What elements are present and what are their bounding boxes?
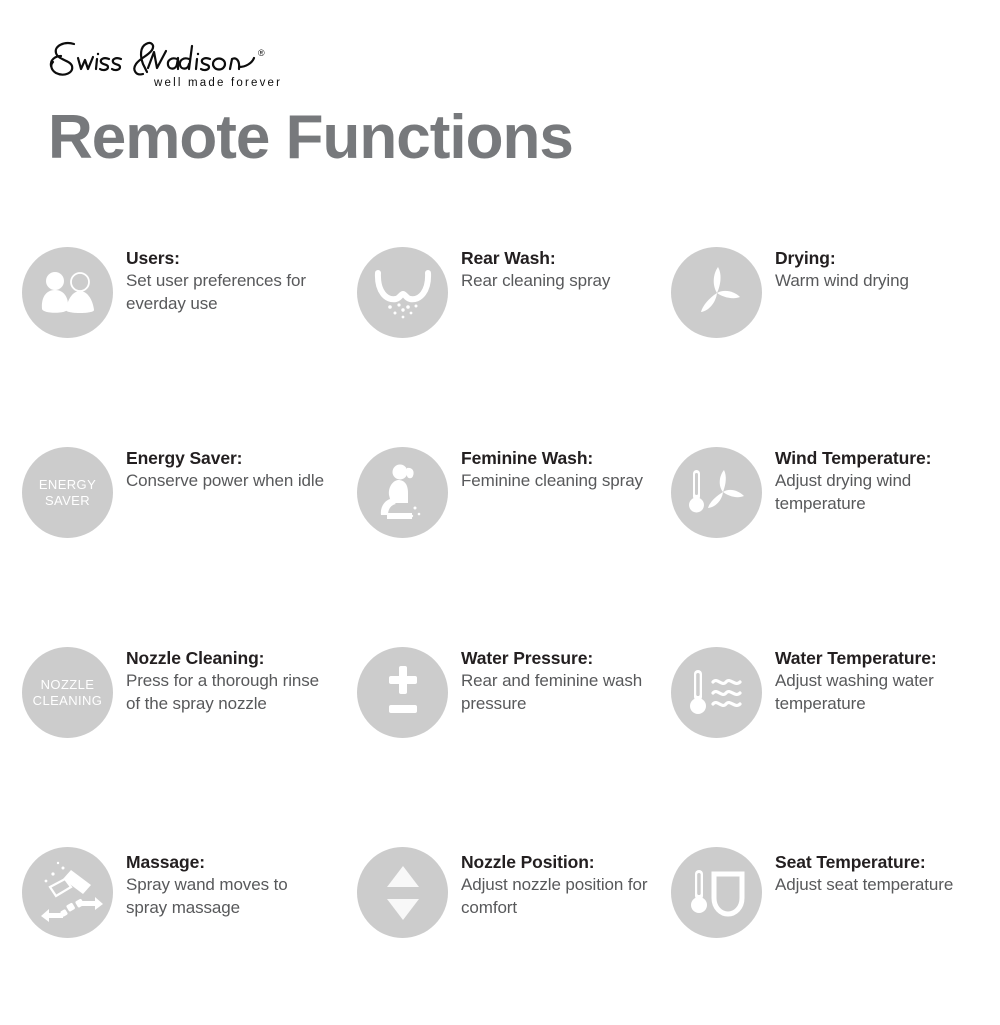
function-text: Water Temperature: Adjust washing water … <box>775 625 1000 715</box>
function-description: Adjust washing water temperature <box>775 670 1000 715</box>
spray-wand-arrows-icon <box>22 847 113 938</box>
swiss-madison-logo: ® well made forever <box>44 36 304 94</box>
function-text: Wind Temperature: Adjust drying wind tem… <box>775 425 1000 515</box>
functions-row: NOZZLE CLEANING Nozzle Cleaning: Press f… <box>0 625 1000 825</box>
icon-text-line-1: ENERGY <box>39 477 96 492</box>
function-item-water-temperature: Water Temperature: Adjust washing water … <box>650 625 1000 825</box>
function-description: Spray wand moves to spray massage <box>126 874 330 919</box>
function-text: Nozzle Cleaning: Press for a thorough ri… <box>126 625 330 715</box>
svg-text:®: ® <box>258 48 265 58</box>
function-title: Nozzle Cleaning: <box>126 647 330 669</box>
function-text: Water Pressure: Rear and feminine wash p… <box>461 625 650 715</box>
thermometer-waves-icon <box>671 647 762 738</box>
function-text: Nozzle Position: Adjust nozzle position … <box>461 825 650 919</box>
seated-female-figure-icon <box>357 447 448 538</box>
function-item-water-pressure: Water Pressure: Rear and feminine wash p… <box>330 625 650 825</box>
function-description: Set user preferences for everday use <box>126 270 330 315</box>
function-item-rear-wash: Rear Wash: Rear cleaning spray <box>330 225 650 425</box>
function-item-seat-temperature: Seat Temperature: Adjust seat temperatur… <box>650 825 1000 1025</box>
function-title: Nozzle Position: <box>461 851 650 873</box>
function-item-feminine-wash: Feminine Wash: Feminine cleaning spray <box>330 425 650 625</box>
function-description: Rear and feminine wash pressure <box>461 670 650 715</box>
function-description: Adjust drying wind temperature <box>775 470 1000 515</box>
function-description: Press for a thorough rinse of the spray … <box>126 670 330 715</box>
function-item-nozzle-cleaning: NOZZLE CLEANING Nozzle Cleaning: Press f… <box>0 625 330 825</box>
function-item-massage: Massage: Spray wand moves to spray massa… <box>0 825 330 1025</box>
function-text: Energy Saver: Conserve power when idle <box>126 425 324 493</box>
function-title: Water Temperature: <box>775 647 1000 669</box>
function-title: Users: <box>126 247 330 269</box>
icon-text-line-2: SAVER <box>45 493 90 508</box>
functions-row: Massage: Spray wand moves to spray massa… <box>0 825 1000 1025</box>
functions-row: Users: Set user preferences for everday … <box>0 225 1000 425</box>
function-item-drying: Drying: Warm wind drying <box>650 225 1000 425</box>
energy-saver-icon-text: ENERGY SAVER <box>39 477 96 509</box>
function-description: Feminine cleaning spray <box>461 470 643 493</box>
fan-blades-icon <box>671 247 762 338</box>
function-text: Rear Wash: Rear cleaning spray <box>461 225 610 293</box>
functions-grid: Users: Set user preferences for everday … <box>0 225 1000 1025</box>
function-title: Massage: <box>126 851 330 873</box>
nozzle-cleaning-text-icon: NOZZLE CLEANING <box>22 647 113 738</box>
functions-row: ENERGY SAVER Energy Saver: Conserve powe… <box>0 425 1000 625</box>
rear-wash-spray-icon <box>357 247 448 338</box>
function-item-nozzle-position: Nozzle Position: Adjust nozzle position … <box>330 825 650 1025</box>
function-title: Energy Saver: <box>126 447 324 469</box>
function-text: Users: Set user preferences for everday … <box>126 225 330 315</box>
function-text: Drying: Warm wind drying <box>775 225 909 293</box>
function-item-wind-temperature: Wind Temperature: Adjust drying wind tem… <box>650 425 1000 625</box>
icon-text-line-2: CLEANING <box>33 693 103 708</box>
up-down-arrows-icon <box>357 847 448 938</box>
function-title: Wind Temperature: <box>775 447 1000 469</box>
function-title: Water Pressure: <box>461 647 650 669</box>
page-title: Remote Functions <box>48 105 573 170</box>
function-description: Conserve power when idle <box>126 470 324 493</box>
function-title: Drying: <box>775 247 909 269</box>
two-users-icon <box>22 247 113 338</box>
svg-text:well made forever: well made forever <box>153 77 282 89</box>
function-description: Warm wind drying <box>775 270 909 293</box>
remote-functions-page: ® well made forever Remote Functions <box>0 0 1000 1000</box>
function-title: Rear Wash: <box>461 247 610 269</box>
function-title: Feminine Wash: <box>461 447 643 469</box>
function-item-energy-saver: ENERGY SAVER Energy Saver: Conserve powe… <box>0 425 330 625</box>
function-text: Massage: Spray wand moves to spray massa… <box>126 825 330 919</box>
icon-text-line-1: NOZZLE <box>41 677 95 692</box>
function-title: Seat Temperature: <box>775 851 953 873</box>
thermometer-fan-icon <box>671 447 762 538</box>
nozzle-cleaning-icon-text: NOZZLE CLEANING <box>33 677 103 709</box>
function-text: Feminine Wash: Feminine cleaning spray <box>461 425 643 493</box>
energy-saver-text-icon: ENERGY SAVER <box>22 447 113 538</box>
plus-minus-icon <box>357 647 448 738</box>
thermometer-seat-icon <box>671 847 762 938</box>
function-description: Adjust nozzle position for comfort <box>461 874 650 919</box>
function-item-users: Users: Set user preferences for everday … <box>0 225 330 425</box>
function-text: Seat Temperature: Adjust seat temperatur… <box>775 825 953 897</box>
function-description: Rear cleaning spray <box>461 270 610 293</box>
function-description: Adjust seat temperature <box>775 874 953 897</box>
